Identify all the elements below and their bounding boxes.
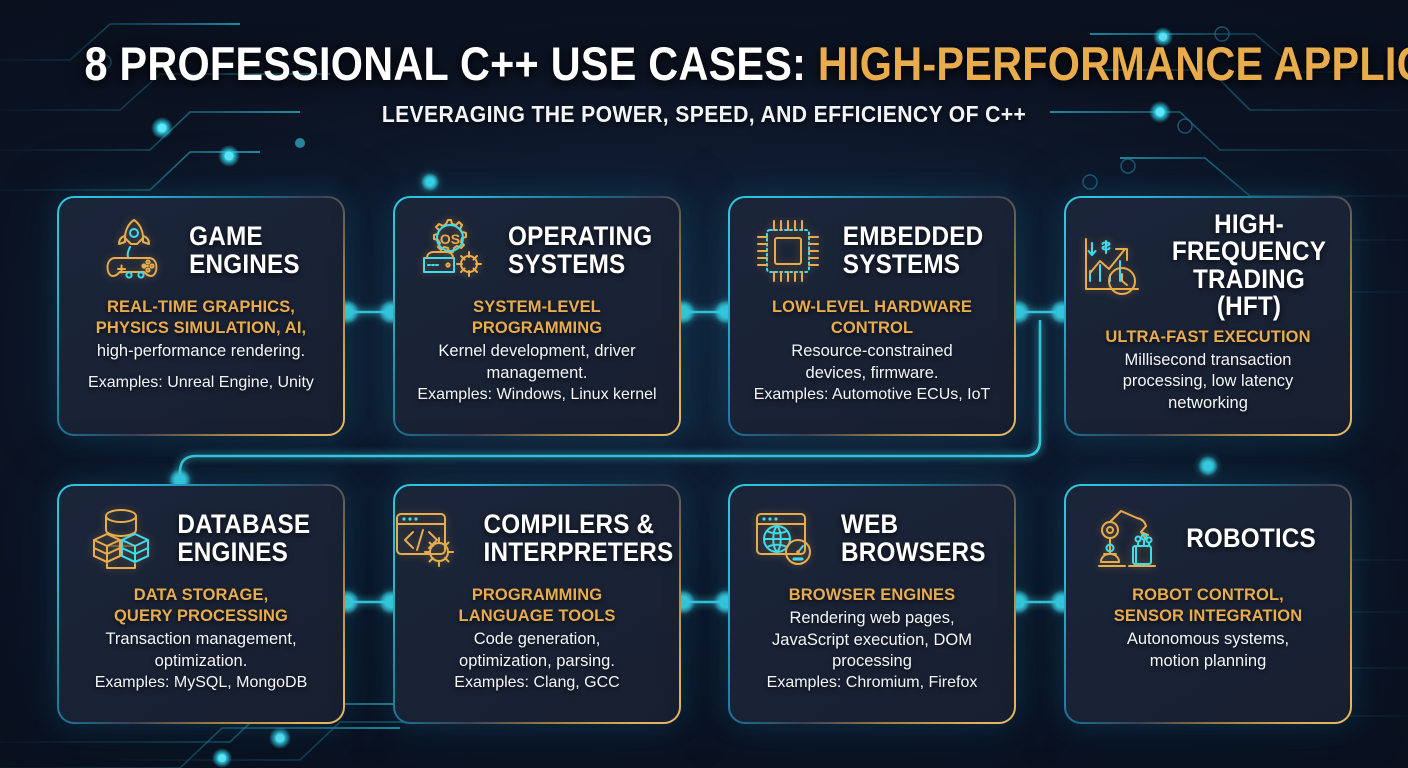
card-title: HIGH-FREQUENCY TRADING (HFT)	[1169, 211, 1329, 321]
trading-chart-clock-icon	[1078, 231, 1148, 301]
card-desc: Millisecond transaction processing, low …	[1078, 350, 1338, 414]
page-title-main: 8 PROFESSIONAL C++ USE CASES:	[84, 37, 817, 90]
database-stack-icon	[84, 502, 158, 576]
card-title: DATABASE ENGINES	[178, 511, 311, 566]
svg-text:OS: OS	[440, 231, 460, 247]
card-title: OPERATING SYSTEMS	[508, 223, 652, 278]
card-examples: Examples: Chromium, Firefox	[742, 673, 1002, 694]
card-compilers-interpreters[interactable]: COMPILERS & INTERPRETERS PROGRAMMING LAN…	[393, 484, 681, 724]
card-lead: DATA STORAGE, QUERY PROCESSING	[71, 585, 331, 627]
card-examples: Examples: Unreal Engine, Unity	[71, 373, 331, 394]
card-game-engines[interactable]: GAME ENGINES REAL-TIME GRAPHICS, PHYSICS…	[57, 196, 345, 436]
card-desc: Kernel development, driver management.	[407, 341, 667, 384]
rocket-gamepad-icon	[97, 214, 171, 288]
card-title: ROBOTICS	[1186, 525, 1316, 553]
card-high-frequency-trading[interactable]: HIGH-FREQUENCY TRADING (HFT) ULTRA-FAST …	[1064, 196, 1352, 436]
card-lead: SYSTEM-LEVEL PROGRAMMING	[407, 297, 667, 339]
card-database-engines[interactable]: DATABASE ENGINES DATA STORAGE, QUERY PRO…	[57, 484, 345, 724]
header: 8 PROFESSIONAL C++ USE CASES: HIGH-PERFO…	[0, 0, 1408, 128]
card-examples: Examples: Clang, GCC	[407, 673, 667, 694]
card-examples: Examples: Windows, Linux kernel	[407, 385, 667, 406]
page-title-highlight: HIGH-PERFORMANCE APPLICATIONS	[818, 37, 1408, 90]
os-gear-server-icon: OS	[414, 214, 488, 288]
card-examples: Examples: Automotive ECUs, IoT	[742, 385, 1002, 406]
browser-globe-gauge-icon	[751, 504, 821, 574]
card-lead: BROWSER ENGINES	[742, 585, 1002, 606]
card-desc: high-performance rendering.	[71, 341, 331, 362]
card-title: GAME ENGINES	[189, 223, 300, 278]
robot-arm-icon	[1093, 502, 1167, 576]
card-title: COMPILERS & INTERPRETERS	[483, 511, 673, 566]
card-operating-systems[interactable]: OS OPERATING SYSTEMS SYSTEM-LEVEL PROGRA…	[393, 196, 681, 436]
card-title: EMBEDDED SYSTEMS	[843, 223, 984, 278]
card-desc: Rendering web pages, JavaScript executio…	[742, 608, 1002, 672]
card-web-browsers[interactable]: WEB BROWSERS BROWSER ENGINES Rendering w…	[728, 484, 1016, 724]
card-desc: Resource-constrained devices, firmware.	[742, 341, 1002, 384]
card-desc: Code generation, optimization, parsing.	[407, 629, 667, 672]
card-robotics[interactable]: ROBOTICS ROBOT CONTROL, SENSOR INTEGRATI…	[1064, 484, 1352, 724]
card-lead: ULTRA-FAST EXECUTION	[1078, 327, 1338, 348]
card-title: WEB BROWSERS	[841, 511, 986, 566]
microchip-icon	[753, 216, 823, 286]
card-examples: Examples: MySQL, MongoDB	[71, 673, 331, 694]
code-window-gear-icon	[395, 504, 461, 574]
card-desc: Transaction management, optimization.	[71, 629, 331, 672]
card-lead: REAL-TIME GRAPHICS, PHYSICS SIMULATION, …	[71, 297, 331, 339]
page-subtitle: LEVERAGING THE POWER, SPEED, AND EFFICIE…	[70, 101, 1337, 128]
card-lead: PROGRAMMING LANGUAGE TOOLS	[407, 585, 667, 627]
page-title: 8 PROFESSIONAL C++ USE CASES: HIGH-PERFO…	[84, 40, 1323, 87]
card-lead: ROBOT CONTROL, SENSOR INTEGRATION	[1078, 585, 1338, 627]
card-desc: Autonomous systems, motion planning	[1078, 629, 1338, 672]
card-lead: LOW-LEVEL HARDWARE CONTROL	[742, 297, 1002, 339]
card-embedded-systems[interactable]: EMBEDDED SYSTEMS LOW-LEVEL HARDWARE CONT…	[728, 196, 1016, 436]
